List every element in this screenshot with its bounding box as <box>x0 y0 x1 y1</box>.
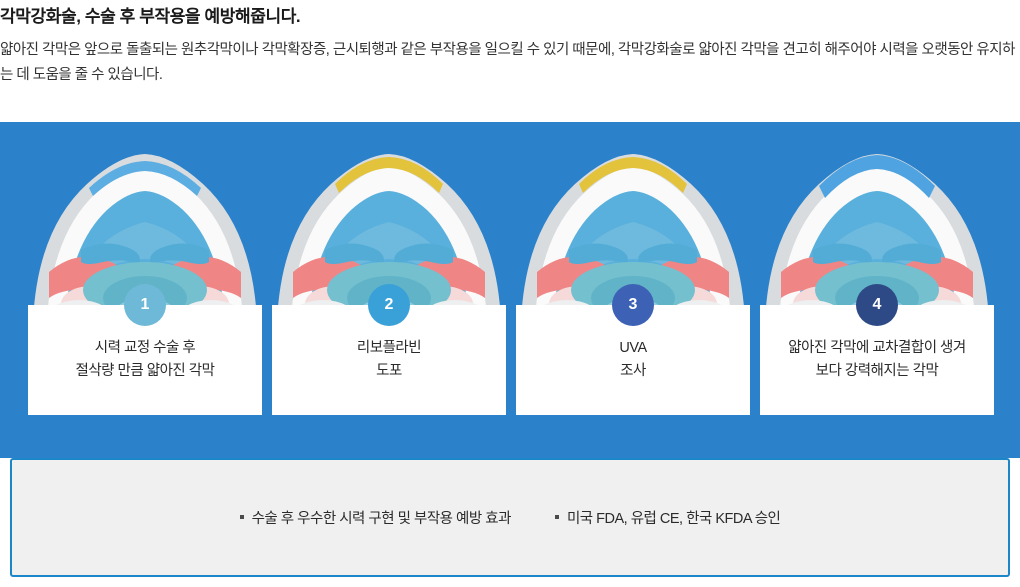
step-number-2: 2 <box>385 296 394 314</box>
process-step-2: 2 리보플라빈 도포 <box>272 122 506 458</box>
step-badge-3: 3 <box>612 284 654 326</box>
step-caption-4: 얇아진 각막에 교차결합이 생겨 보다 강력해지는 각막 <box>784 337 970 383</box>
bullet-icon <box>240 515 244 519</box>
footer-notes-box: 수술 후 우수한 시력 구현 및 부작용 예방 효과 미국 FDA, 유럽 CE… <box>10 458 1010 577</box>
page-description: 얇아진 각막은 앞으로 돌출되는 원추각막이나 각막확장증, 근시퇴행과 같은 … <box>0 38 1020 88</box>
step-badge-4: 4 <box>856 284 898 326</box>
step-badge-1: 1 <box>124 284 166 326</box>
header: 각막강화술, 수술 후 부작용을 예방해줍니다. 얇아진 각막은 앞으로 돌출되… <box>0 0 1020 122</box>
process-panel: 1 시력 교정 수술 후 절삭량 만큼 얇아진 각막 <box>0 122 1020 458</box>
note-text: 미국 FDA, 유럽 CE, 한국 KFDA 승인 <box>567 507 780 528</box>
step-caption-3: UVA 조사 <box>615 337 650 383</box>
step-number-3: 3 <box>629 296 638 314</box>
step-number-1: 1 <box>141 296 150 314</box>
page-title: 각막강화술, 수술 후 부작용을 예방해줍니다. <box>0 2 300 27</box>
infographic-page: 각막강화술, 수술 후 부작용을 예방해줍니다. 얇아진 각막은 앞으로 돌출되… <box>0 0 1020 587</box>
notes-list: 수술 후 우수한 시력 구현 및 부작용 예방 효과 미국 FDA, 유럽 CE… <box>240 507 781 528</box>
step-caption-2: 리보플라빈 도포 <box>353 337 425 383</box>
step-badge-2: 2 <box>368 284 410 326</box>
process-step-3: 3 UVA 조사 <box>516 122 750 458</box>
process-step-4: 4 얇아진 각막에 교차결합이 생겨 보다 강력해지는 각막 <box>760 122 994 458</box>
bullet-icon <box>555 515 559 519</box>
note-item: 수술 후 우수한 시력 구현 및 부작용 예방 효과 <box>240 507 511 528</box>
process-step-1: 1 시력 교정 수술 후 절삭량 만큼 얇아진 각막 <box>28 122 262 458</box>
step-caption-1: 시력 교정 수술 후 절삭량 만큼 얇아진 각막 <box>72 337 219 383</box>
note-text: 수술 후 우수한 시력 구현 및 부작용 예방 효과 <box>252 507 511 528</box>
step-number-4: 4 <box>873 296 882 314</box>
note-item: 미국 FDA, 유럽 CE, 한국 KFDA 승인 <box>555 507 780 528</box>
